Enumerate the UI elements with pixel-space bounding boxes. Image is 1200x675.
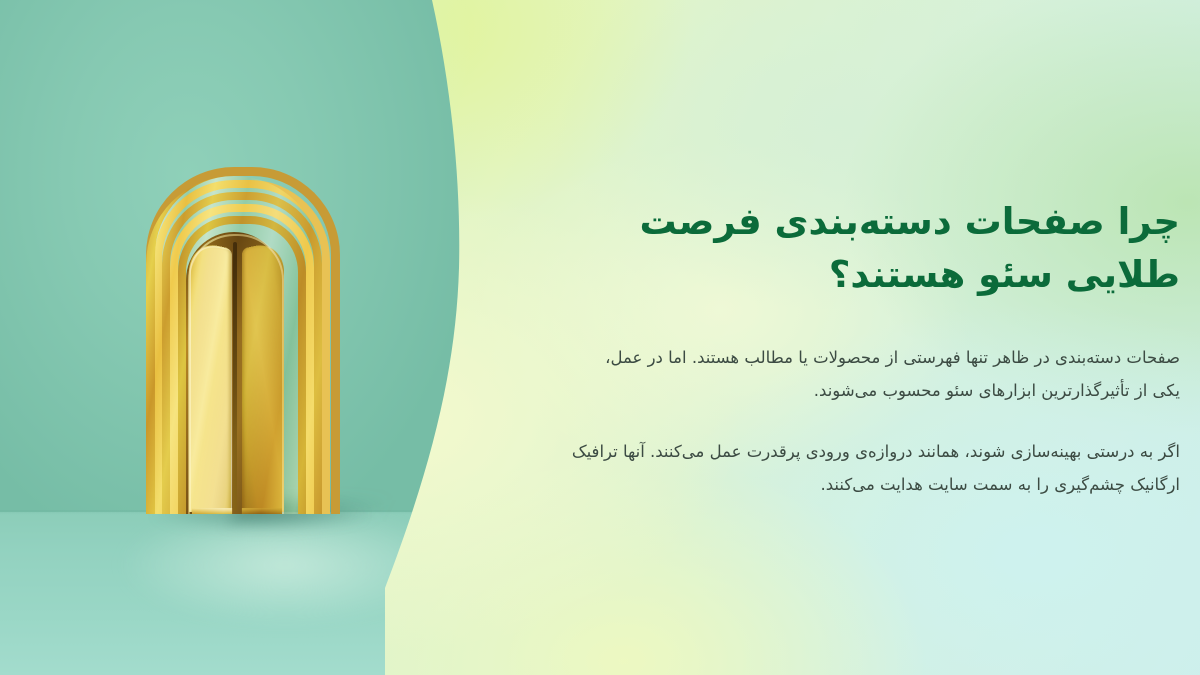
text-content-column: چرا صفحات دسته‌بندی فرصت طلایی سئو هستند…: [520, 196, 1180, 501]
page-title-line-1: چرا صفحات دسته‌بندی فرصت: [520, 196, 1180, 249]
article-hero-slide: چرا صفحات دسته‌بندی فرصت طلایی سئو هستند…: [0, 0, 1200, 675]
golden-arch-door-icon: [146, 176, 322, 514]
body-paragraph-2-line-1: اگر به درستی بهینه‌سازی شوند، همانند درو…: [520, 435, 1180, 468]
body-paragraph-1-line-2: یکی از تأثیرگذارترین ابزارهای سئو محسوب …: [520, 374, 1180, 407]
body-paragraph-1-line-1: صفحات دسته‌بندی در ظاهر تنها فهرستی از م…: [520, 341, 1180, 374]
arch-ring-1: [146, 167, 340, 514]
body-paragraph-1: صفحات دسته‌بندی در ظاهر تنها فهرستی از م…: [520, 341, 1180, 407]
page-title: چرا صفحات دسته‌بندی فرصت طلایی سئو هستند…: [520, 196, 1180, 301]
body-paragraph-2-line-2: ارگانیک چشم‌گیری را به سمت سایت هدایت می…: [520, 468, 1180, 501]
page-title-line-2: طلایی سئو هستند؟: [520, 249, 1180, 302]
body-paragraph-2: اگر به درستی بهینه‌سازی شوند، همانند درو…: [520, 435, 1180, 501]
